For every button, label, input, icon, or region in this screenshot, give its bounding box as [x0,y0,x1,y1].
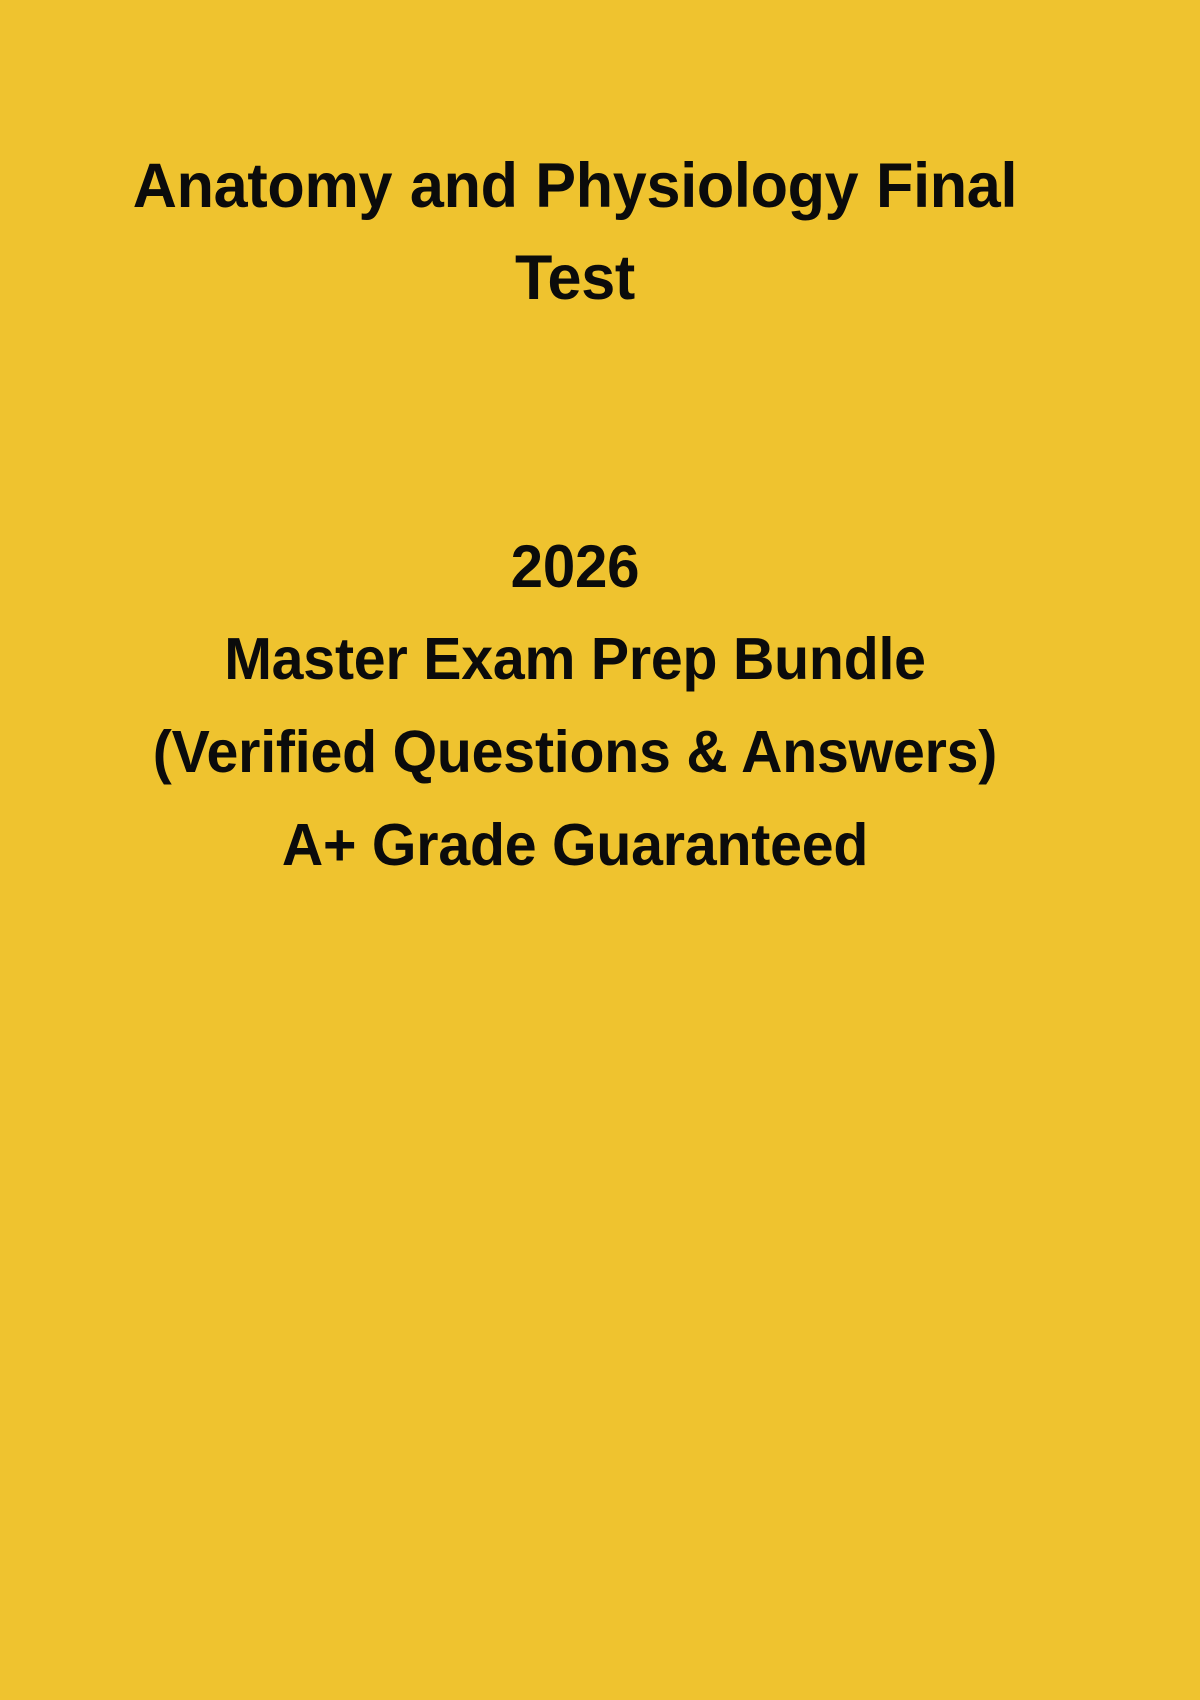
year-label: 2026 [71,520,1080,613]
bundle-description: Master Exam Prep Bundle (Verified Questi… [71,613,1080,799]
document-cover-page: Anatomy and Physiology Final Test 2026 M… [0,0,1200,1700]
blank-lower-area [0,1060,1200,1700]
subtitle-block: 2026 Master Exam Prep Bundle (Verified Q… [0,520,1150,892]
title-block: Anatomy and Physiology Final Test [0,140,1150,324]
grade-guarantee-label: A+ Grade Guaranteed [71,799,1080,892]
page-title: Anatomy and Physiology Final Test [71,140,1080,324]
